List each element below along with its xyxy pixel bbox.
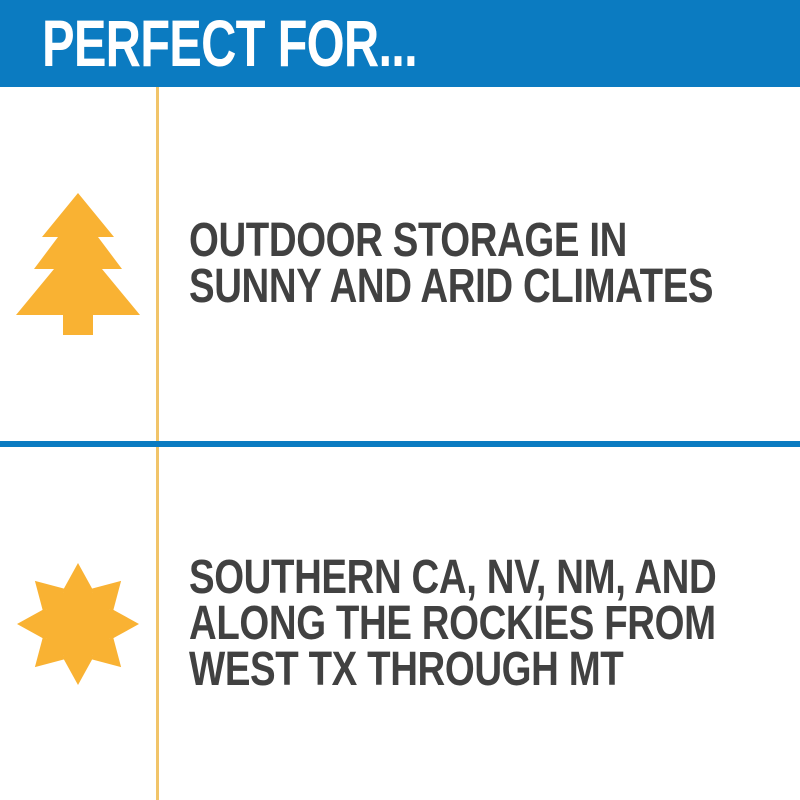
sun-icon	[17, 563, 139, 685]
header-banner: PERFECT FOR...	[0, 0, 800, 87]
headline-line: OUTDOOR STORAGE IN	[189, 218, 673, 264]
feature-row-regions: SOUTHERN CA, NV, NM, AND ALONG THE ROCKI…	[0, 447, 800, 800]
icon-cell-regions	[0, 447, 156, 800]
icon-cell-outdoor-storage	[0, 87, 156, 441]
pine-tree-icon	[14, 193, 142, 335]
headline-line: ALONG THE ROCKIES FROM	[189, 601, 673, 647]
headline-regions: SOUTHERN CA, NV, NM, AND ALONG THE ROCKI…	[189, 555, 673, 693]
perfect-for-infographic: PERFECT FOR... OUTDOOR STORAGE IN SUNNY …	[0, 0, 800, 800]
headline-line: SOUTHERN CA, NV, NM, AND	[189, 555, 673, 601]
headline-line: SUNNY AND ARID CLIMATES	[189, 264, 673, 310]
page-title: PERFECT FOR...	[42, 8, 417, 78]
headline-line: WEST TX THROUGH MT	[189, 647, 673, 693]
feature-row-outdoor-storage: OUTDOOR STORAGE IN SUNNY AND ARID CLIMAT…	[0, 87, 800, 441]
headline-outdoor-storage: OUTDOOR STORAGE IN SUNNY AND ARID CLIMAT…	[189, 218, 673, 310]
text-cell-outdoor-storage: OUTDOOR STORAGE IN SUNNY AND ARID CLIMAT…	[189, 87, 794, 441]
text-cell-regions: SOUTHERN CA, NV, NM, AND ALONG THE ROCKI…	[189, 447, 794, 800]
